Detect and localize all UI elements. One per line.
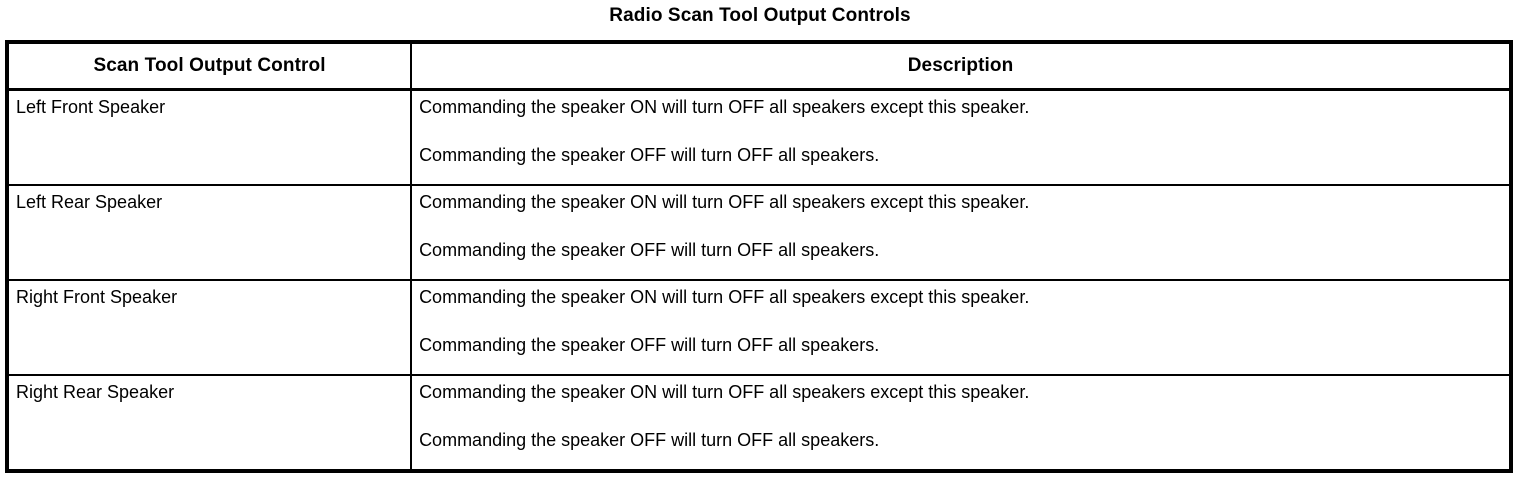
description-line-on: Commanding the speaker ON will turn OFF … xyxy=(419,192,1509,213)
description-line-off: Commanding the speaker OFF will turn OFF… xyxy=(419,240,1509,261)
document-page: Radio Scan Tool Output Controls Scan Too… xyxy=(0,0,1520,484)
description-line-on: Commanding the speaker ON will turn OFF … xyxy=(419,287,1509,308)
table-row: Right Rear Speaker Commanding the speake… xyxy=(7,375,1511,471)
description-content: Commanding the speaker ON will turn OFF … xyxy=(412,376,1509,451)
page-title: Radio Scan Tool Output Controls xyxy=(0,0,1520,27)
description-cell: Commanding the speaker ON will turn OFF … xyxy=(411,280,1511,375)
description-line-off: Commanding the speaker OFF will turn OFF… xyxy=(419,145,1509,166)
table-row: Left Front Speaker Commanding the speake… xyxy=(7,90,1511,186)
control-name-label: Right Rear Speaker xyxy=(9,376,410,403)
description-line-on: Commanding the speaker ON will turn OFF … xyxy=(419,97,1509,118)
description-content: Commanding the speaker ON will turn OFF … xyxy=(412,281,1509,356)
column-header-description-label: Description xyxy=(412,44,1509,88)
control-cell: Right Front Speaker xyxy=(7,280,411,375)
description-cell: Commanding the speaker ON will turn OFF … xyxy=(411,185,1511,280)
table-row: Left Rear Speaker Commanding the speaker… xyxy=(7,185,1511,280)
control-name-label: Left Front Speaker xyxy=(9,91,410,118)
description-line-off: Commanding the speaker OFF will turn OFF… xyxy=(419,335,1509,356)
description-cell: Commanding the speaker ON will turn OFF … xyxy=(411,375,1511,471)
table-header-row: Scan Tool Output Control Description xyxy=(7,42,1511,90)
description-content: Commanding the speaker ON will turn OFF … xyxy=(412,186,1509,261)
description-line-on: Commanding the speaker ON will turn OFF … xyxy=(419,382,1509,403)
description-cell: Commanding the speaker ON will turn OFF … xyxy=(411,90,1511,186)
table-body: Left Front Speaker Commanding the speake… xyxy=(7,90,1511,472)
column-header-control: Scan Tool Output Control xyxy=(7,42,411,90)
control-name-label: Right Front Speaker xyxy=(9,281,410,308)
control-cell: Right Rear Speaker xyxy=(7,375,411,471)
control-name-label: Left Rear Speaker xyxy=(9,186,410,213)
column-header-control-label: Scan Tool Output Control xyxy=(9,44,410,88)
table-header: Scan Tool Output Control Description xyxy=(7,42,1511,90)
control-cell: Left Rear Speaker xyxy=(7,185,411,280)
column-header-description: Description xyxy=(411,42,1511,90)
control-cell: Left Front Speaker xyxy=(7,90,411,186)
scan-tool-output-controls-table: Scan Tool Output Control Description Lef… xyxy=(5,40,1513,473)
table-row: Right Front Speaker Commanding the speak… xyxy=(7,280,1511,375)
description-line-off: Commanding the speaker OFF will turn OFF… xyxy=(419,430,1509,451)
description-content: Commanding the speaker ON will turn OFF … xyxy=(412,91,1509,166)
table-container: Scan Tool Output Control Description Lef… xyxy=(5,40,1513,473)
